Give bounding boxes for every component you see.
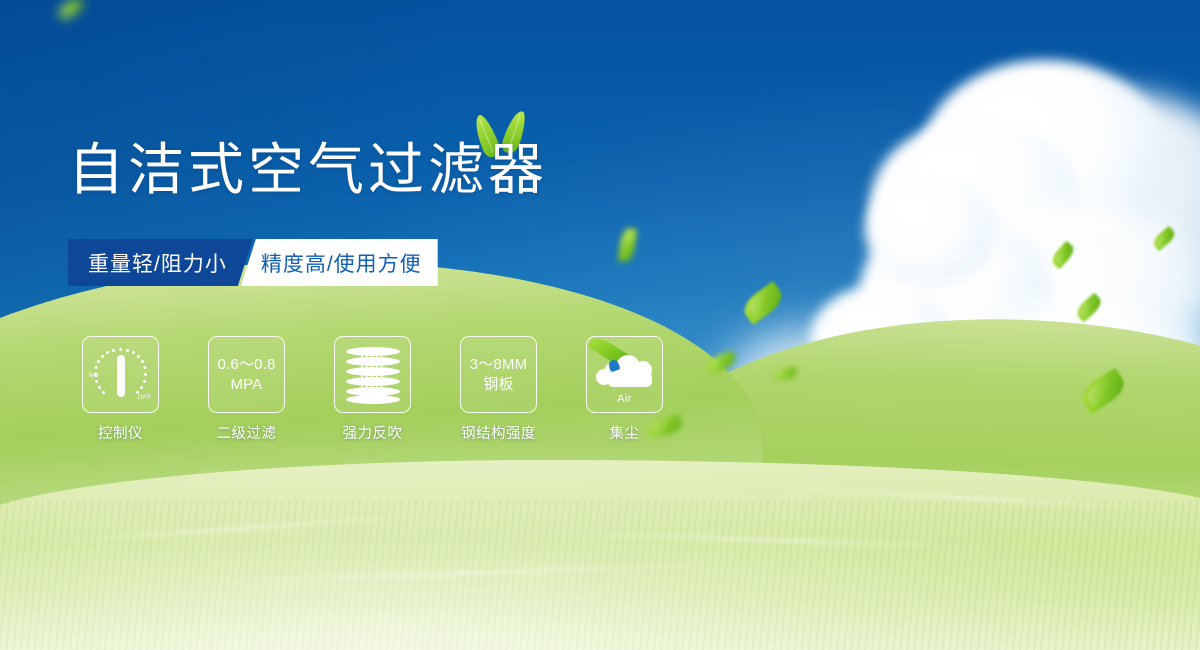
- feature-label: 集尘: [586, 422, 663, 443]
- cloud-puff: [865, 175, 995, 285]
- gauge-needle: [117, 355, 125, 397]
- feature-icon-box: 0.6～0.8 MPA: [208, 336, 285, 413]
- pressure-unit: MPA: [217, 375, 275, 394]
- feature-label: 钢结构强度: [460, 422, 537, 443]
- pressure-text-icon: 0.6～0.8 MPA: [217, 355, 275, 393]
- feature-icon-box: Air: [586, 336, 663, 413]
- steel-thickness: 3～8MM: [470, 355, 528, 374]
- feature-item-control-gauge[interactable]: NO OFF 控制仪: [82, 336, 159, 443]
- feature-icon-row: NO OFF 控制仪 0.6～0.8 MPA 二级过滤: [82, 336, 663, 443]
- feature-item-two-stage-filter[interactable]: 0.6～0.8 MPA 二级过滤: [208, 336, 285, 443]
- feature-item-steel-strength[interactable]: 3～8MM 钢板 钢结构强度: [460, 336, 537, 443]
- subtitle-bar: 重量轻/阻力小 精度高/使用方便: [68, 239, 462, 286]
- feature-icon-box: [334, 336, 411, 413]
- feature-item-dust-collection[interactable]: Air 集尘: [586, 336, 663, 443]
- gauge-label-off: OFF: [138, 394, 152, 401]
- feature-label: 强力反吹: [334, 422, 411, 443]
- subtitle-left-panel: 重量轻/阻力小: [68, 239, 253, 286]
- feature-icon-box: 3～8MM 钢板: [460, 336, 537, 413]
- grass-near-field: [0, 460, 1200, 650]
- page-title: 自洁式空气过滤器: [68, 142, 548, 198]
- filter-stack-icon: [346, 346, 400, 404]
- filter-disc: [346, 395, 400, 404]
- air-label: Air: [592, 393, 658, 405]
- air-cloud-icon: Air: [592, 347, 658, 403]
- gauge-label-no: NO: [89, 372, 99, 379]
- filter-disc: [346, 377, 400, 386]
- subtitle-right-panel: 精度高/使用方便: [241, 239, 438, 286]
- steel-plate-text-icon: 3～8MM 钢板: [470, 355, 528, 393]
- filter-disc: [346, 347, 400, 356]
- pressure-value: 0.6～0.8: [217, 355, 275, 374]
- feature-label: 控制仪: [82, 422, 159, 443]
- cloud-bump: [634, 361, 652, 379]
- gauge-icon: NO OFF: [90, 346, 152, 404]
- feature-label: 二级过滤: [208, 422, 285, 443]
- steel-material: 钢板: [470, 375, 528, 394]
- feature-icon-box: NO OFF: [82, 336, 159, 413]
- filter-disc: [346, 367, 400, 376]
- feature-item-blowback[interactable]: 强力反吹: [334, 336, 411, 443]
- filter-disc: [346, 357, 400, 366]
- product-banner: 自洁式空气过滤器 重量轻/阻力小 精度高/使用方便: [0, 0, 1200, 650]
